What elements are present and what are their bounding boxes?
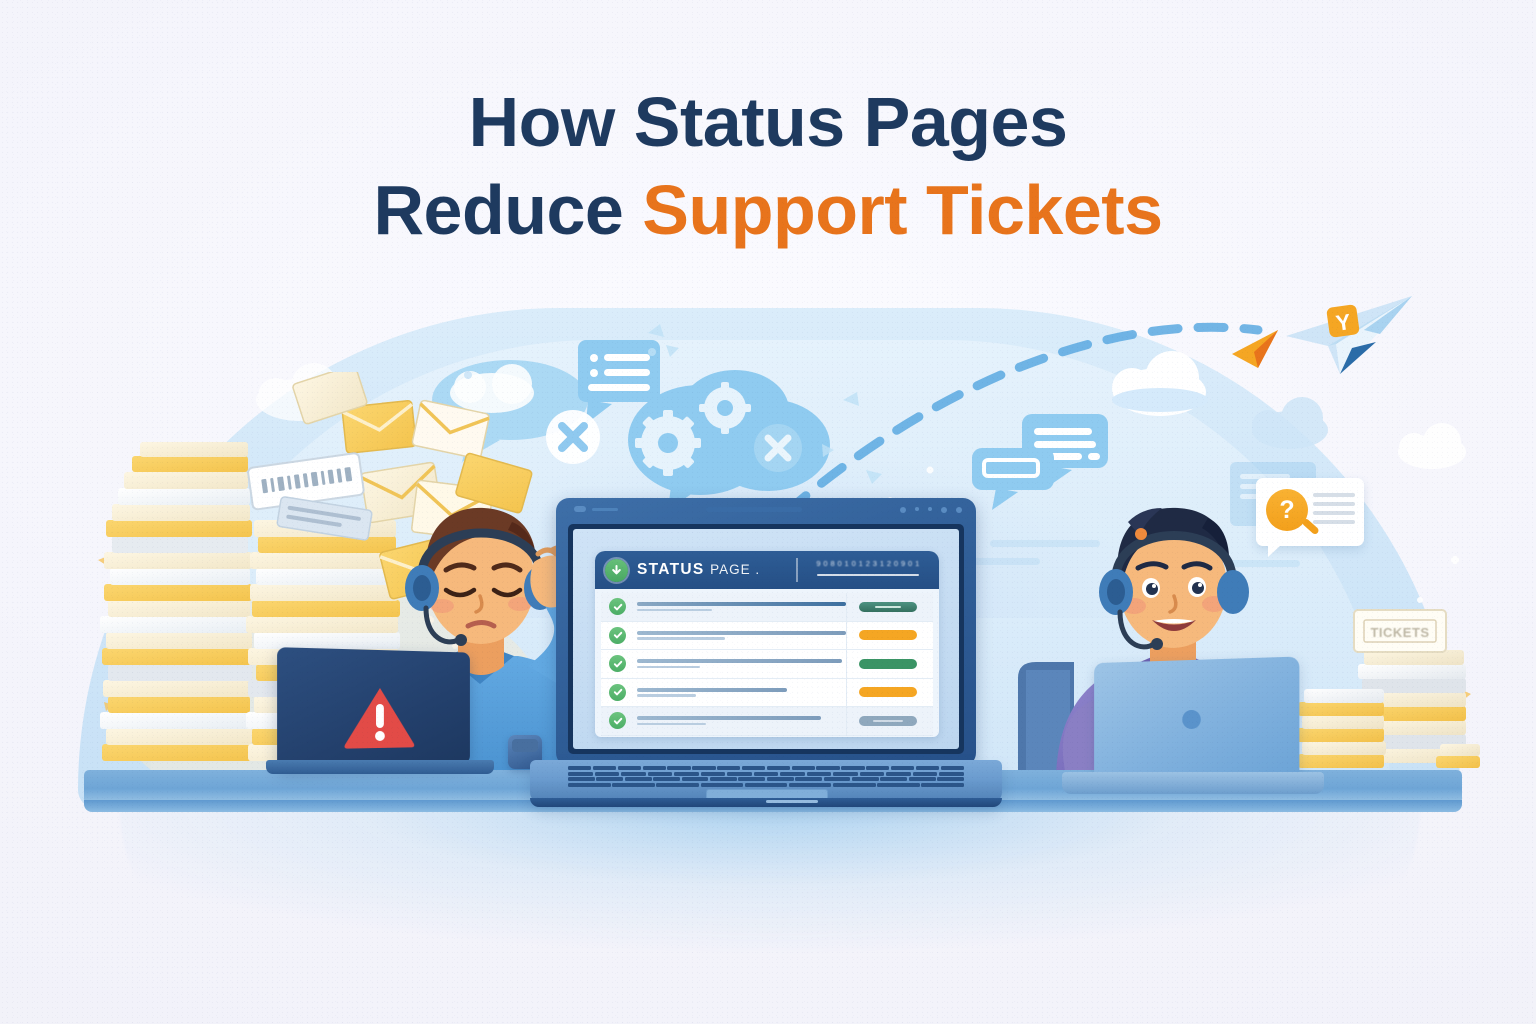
status-page-app: STATUS PAGE . 9 0 8 0 1 0 1 2 3 1 2 0 9 … bbox=[595, 551, 939, 737]
download-circle-icon bbox=[605, 559, 628, 582]
key[interactable] bbox=[807, 772, 832, 776]
laptop-keyboard bbox=[568, 766, 964, 787]
lid-indicator-line bbox=[592, 508, 618, 511]
status-row[interactable] bbox=[601, 707, 933, 736]
key-row bbox=[568, 766, 964, 770]
laptop-front-notch bbox=[766, 800, 818, 803]
status-row[interactable] bbox=[601, 622, 933, 651]
key[interactable] bbox=[937, 777, 964, 781]
key[interactable] bbox=[656, 783, 699, 787]
status-page-meta: 9 0 8 0 1 0 1 2 3 1 2 0 9 0 1 bbox=[813, 559, 923, 568]
ticket-pile-label: TICKETS bbox=[1354, 610, 1446, 652]
status-page-laptop: STATUS PAGE . 9 0 8 0 1 0 1 2 3 1 2 0 9 … bbox=[556, 498, 976, 818]
paper-plane-icon: Y bbox=[1280, 290, 1420, 380]
status-badge[interactable] bbox=[859, 602, 917, 612]
key[interactable] bbox=[913, 772, 938, 776]
status-row-labels bbox=[637, 631, 846, 640]
key[interactable] bbox=[738, 777, 765, 781]
status-row-labels bbox=[637, 659, 846, 668]
key[interactable] bbox=[568, 777, 595, 781]
title-line-1: How Status Pages bbox=[0, 78, 1536, 166]
dark-laptop-lid bbox=[277, 647, 470, 769]
page-title: How Status Pages Reduce Support Tickets bbox=[0, 78, 1536, 254]
status-row-detail-placeholder bbox=[637, 609, 712, 612]
status-cell bbox=[846, 707, 929, 735]
light-laptop-lid bbox=[1094, 656, 1299, 781]
key[interactable] bbox=[745, 783, 788, 787]
key[interactable] bbox=[701, 772, 726, 776]
check-circle-icon bbox=[609, 712, 626, 729]
key[interactable] bbox=[939, 772, 964, 776]
check-circle-icon bbox=[609, 655, 626, 672]
key-row bbox=[568, 772, 964, 776]
status-row[interactable] bbox=[601, 679, 933, 708]
key[interactable] bbox=[891, 766, 914, 770]
key[interactable] bbox=[621, 772, 646, 776]
status-row-labels bbox=[637, 602, 846, 611]
lid-indicator bbox=[574, 506, 586, 512]
status-page-meta-rule bbox=[817, 574, 919, 576]
key[interactable] bbox=[767, 777, 794, 781]
key[interactable] bbox=[780, 772, 805, 776]
laptop-lid: STATUS PAGE . 9 0 8 0 1 0 1 2 3 1 2 0 9 … bbox=[556, 498, 976, 766]
dark-laptop bbox=[280, 650, 510, 790]
status-row-detail-placeholder bbox=[637, 723, 706, 726]
key[interactable] bbox=[909, 777, 936, 781]
desk-reflection bbox=[120, 806, 1420, 986]
light-laptop-base bbox=[1062, 772, 1324, 794]
key[interactable] bbox=[618, 766, 641, 770]
key[interactable] bbox=[877, 783, 920, 787]
key[interactable] bbox=[833, 772, 858, 776]
pile-column-left bbox=[100, 442, 253, 761]
key[interactable] bbox=[648, 772, 673, 776]
status-page-title-strong: STATUS bbox=[637, 561, 705, 578]
status-row-name-placeholder bbox=[637, 688, 787, 692]
status-row-detail-placeholder bbox=[637, 694, 696, 697]
key[interactable] bbox=[653, 777, 680, 781]
screen-bezel: STATUS PAGE . 9 0 8 0 1 0 1 2 3 1 2 0 9 … bbox=[568, 524, 964, 754]
key[interactable] bbox=[625, 777, 652, 781]
key[interactable] bbox=[727, 772, 752, 776]
key-row bbox=[568, 777, 964, 781]
key[interactable] bbox=[852, 777, 879, 781]
key[interactable] bbox=[833, 783, 876, 787]
key[interactable] bbox=[886, 772, 911, 776]
key[interactable] bbox=[841, 766, 864, 770]
key[interactable] bbox=[568, 766, 591, 770]
status-row-name-placeholder bbox=[637, 631, 846, 635]
key[interactable] bbox=[860, 772, 885, 776]
header-divider bbox=[796, 558, 798, 582]
key[interactable] bbox=[941, 766, 964, 770]
status-row[interactable] bbox=[601, 593, 933, 622]
key[interactable] bbox=[866, 766, 889, 770]
key[interactable] bbox=[674, 772, 699, 776]
dark-laptop-base bbox=[266, 760, 494, 774]
key[interactable] bbox=[568, 772, 593, 776]
key[interactable] bbox=[921, 783, 964, 787]
illustration-canvas: How Status Pages Reduce Support Tickets bbox=[0, 0, 1536, 1024]
lid-dots bbox=[900, 507, 962, 513]
key[interactable] bbox=[701, 783, 744, 787]
key[interactable] bbox=[717, 766, 740, 770]
key[interactable] bbox=[643, 766, 666, 770]
key[interactable] bbox=[596, 777, 623, 781]
key[interactable] bbox=[795, 777, 822, 781]
status-cell bbox=[846, 593, 929, 621]
warning-triangle-icon bbox=[342, 684, 416, 751]
status-cell bbox=[846, 679, 929, 707]
key[interactable] bbox=[789, 783, 832, 787]
status-page-title: STATUS PAGE . bbox=[637, 561, 760, 579]
key[interactable] bbox=[916, 766, 939, 770]
status-badge[interactable] bbox=[859, 659, 917, 669]
status-badge[interactable] bbox=[859, 716, 917, 726]
laptop-logo bbox=[1182, 710, 1201, 729]
key[interactable] bbox=[880, 777, 907, 781]
key[interactable] bbox=[792, 766, 815, 770]
cloud-icon bbox=[1398, 423, 1466, 469]
status-row-detail-placeholder bbox=[637, 637, 725, 640]
check-circle-icon bbox=[609, 684, 626, 701]
status-badge[interactable] bbox=[859, 687, 917, 697]
key[interactable] bbox=[742, 766, 765, 770]
title-line-2: Reduce Support Tickets bbox=[0, 166, 1536, 254]
status-row-name-placeholder bbox=[637, 716, 821, 720]
key[interactable] bbox=[593, 766, 616, 770]
light-laptop bbox=[1086, 660, 1348, 796]
key[interactable] bbox=[710, 777, 737, 781]
status-page-title-light: PAGE . bbox=[710, 562, 760, 577]
key[interactable] bbox=[767, 766, 790, 770]
key[interactable] bbox=[824, 777, 851, 781]
status-row-name-placeholder bbox=[637, 659, 842, 663]
status-row-detail-placeholder bbox=[637, 666, 700, 669]
key-row bbox=[568, 783, 964, 787]
key[interactable] bbox=[612, 783, 655, 787]
status-row[interactable] bbox=[601, 650, 933, 679]
status-cell bbox=[846, 622, 929, 650]
key[interactable] bbox=[754, 772, 779, 776]
status-badge[interactable] bbox=[859, 630, 917, 640]
key[interactable] bbox=[692, 766, 715, 770]
key[interactable] bbox=[568, 783, 611, 787]
key[interactable] bbox=[816, 766, 839, 770]
status-row-labels bbox=[637, 688, 846, 697]
status-page-rows bbox=[595, 589, 939, 736]
check-circle-icon bbox=[609, 598, 626, 615]
status-row-labels bbox=[637, 716, 846, 725]
status-cell bbox=[846, 650, 929, 678]
key[interactable] bbox=[595, 772, 620, 776]
check-circle-icon bbox=[609, 627, 626, 644]
webcam-bar bbox=[706, 507, 802, 512]
key[interactable] bbox=[682, 777, 709, 781]
laptop-screen: STATUS PAGE . 9 0 8 0 1 0 1 2 3 1 2 0 9 … bbox=[573, 529, 959, 749]
status-row-name-placeholder bbox=[637, 602, 846, 606]
title-line-2-plain: Reduce bbox=[373, 171, 642, 249]
status-page-header: STATUS PAGE . 9 0 8 0 1 0 1 2 3 1 2 0 9 … bbox=[595, 551, 939, 589]
title-line-2-accent: Support Tickets bbox=[642, 171, 1162, 249]
key[interactable] bbox=[667, 766, 690, 770]
ticket-pile-label-text: TICKETS bbox=[1370, 625, 1429, 640]
